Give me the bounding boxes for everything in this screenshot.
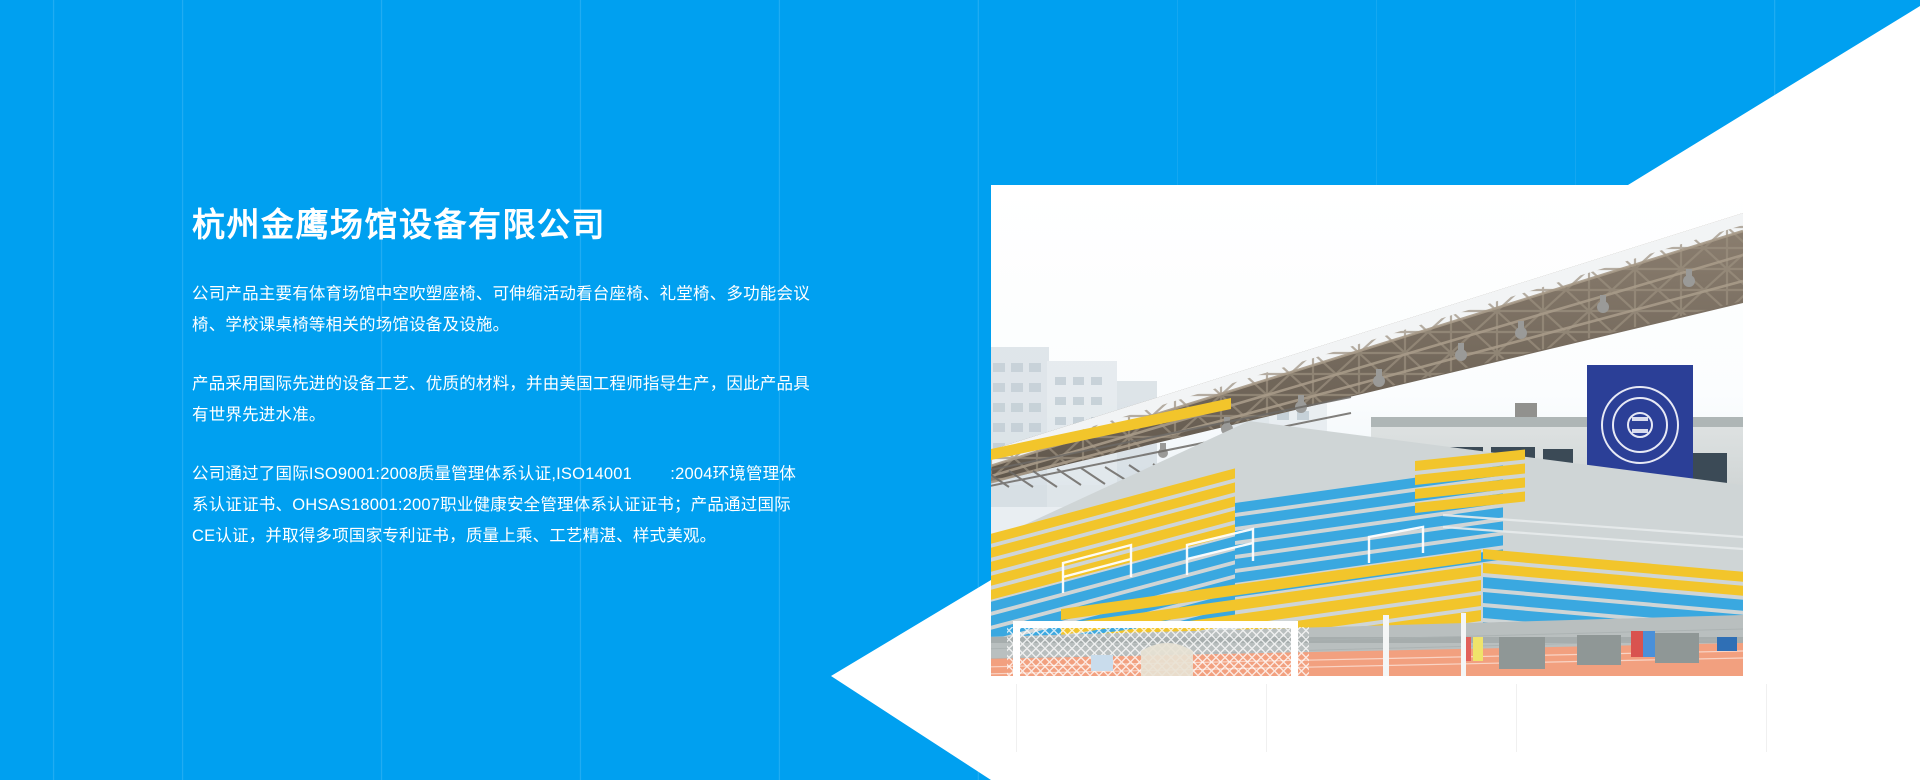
hero-banner: 杭州金鹰场馆设备有限公司 公司产品主要有体育场馆中空吹塑座椅、可伸缩活动看台座椅… xyxy=(0,0,1920,780)
hero-paragraph-certifications: 公司通过了国际ISO9001:2008质量管理体系认证,ISO14001 :20… xyxy=(192,459,812,552)
white-area-gridlines xyxy=(1000,684,1800,752)
stadium-photo xyxy=(991,185,1743,676)
stadium-photo-illustration xyxy=(991,185,1743,676)
hero-copy: 杭州金鹰场馆设备有限公司 公司产品主要有体育场馆中空吹塑座椅、可伸缩活动看台座椅… xyxy=(192,205,812,552)
hero-paragraph-quality: 产品采用国际先进的设备工艺、优质的材料，并由美国工程师指导生产，因此产品具有世界… xyxy=(192,369,812,431)
company-title: 杭州金鹰场馆设备有限公司 xyxy=(192,205,812,245)
hero-paragraph-products: 公司产品主要有体育场馆中空吹塑座椅、可伸缩活动看台座椅、礼堂椅、多功能会议椅、学… xyxy=(192,279,812,341)
